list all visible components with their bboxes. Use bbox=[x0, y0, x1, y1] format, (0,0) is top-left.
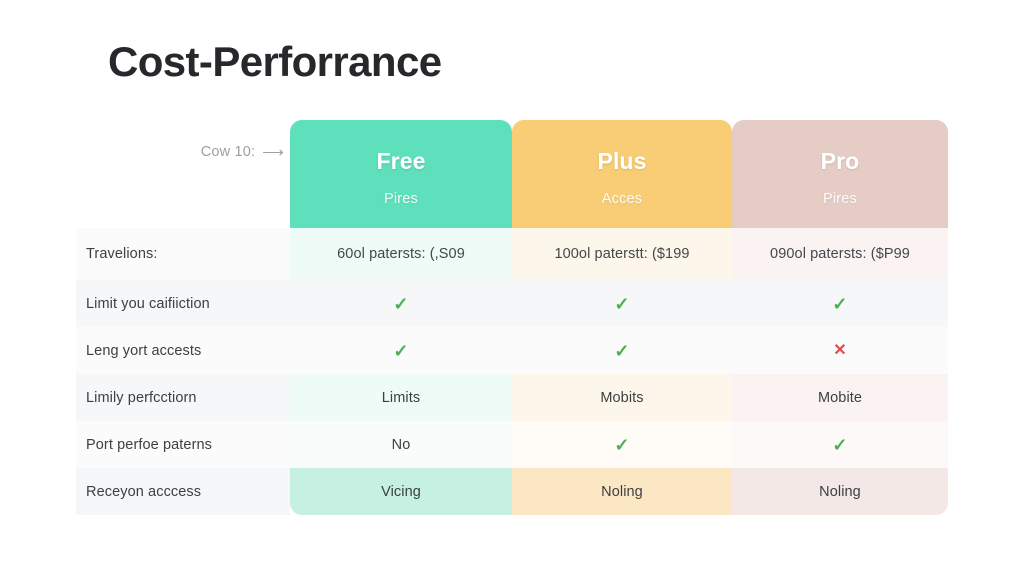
header-spacer-cell bbox=[76, 120, 290, 228]
cross-icon: ✕ bbox=[833, 343, 847, 359]
price-cell-free: 60ol patersts: (,S09 bbox=[290, 228, 512, 280]
feature-cell-free: Vicing bbox=[290, 468, 512, 515]
row-label-price: Travelions: bbox=[76, 228, 290, 280]
check-icon: ✓ bbox=[614, 436, 629, 454]
table-row: Leng yort accests ✓ ✓ ✕ bbox=[76, 327, 948, 374]
plan-name-pro: Pro bbox=[821, 148, 860, 175]
feature-cell-plus: ✓ bbox=[512, 421, 732, 468]
row-label: Leng yort accests bbox=[76, 327, 290, 374]
feature-cell-plus: ✓ bbox=[512, 280, 732, 327]
row-label: Limit you caifiiction bbox=[76, 280, 290, 327]
pricing-comparison-page: Cost-Perforrance Cow 10:⟶ Free Pires Plu… bbox=[0, 0, 1024, 576]
price-cell-plus: 100ol paterstt: ($199 bbox=[512, 228, 732, 280]
plan-name-free: Free bbox=[377, 148, 426, 175]
feature-cell-free: ✓ bbox=[290, 327, 512, 374]
check-icon: ✓ bbox=[832, 436, 847, 454]
feature-cell-pro: ✓ bbox=[732, 280, 948, 327]
table-row: Limily perfcctiorn Limits Mobits Mobite bbox=[76, 374, 948, 421]
table-row-price: Travelions: 60ol patersts: (,S09 100ol p… bbox=[76, 228, 948, 280]
plan-header-plus[interactable]: Plus Acces bbox=[512, 120, 732, 228]
feature-cell-plus: ✓ bbox=[512, 327, 732, 374]
page-title: Cost-Perforrance bbox=[108, 38, 442, 86]
plan-subtitle-free: Pires bbox=[384, 191, 418, 207]
check-icon: ✓ bbox=[614, 342, 629, 360]
plan-name-plus: Plus bbox=[598, 148, 647, 175]
row-label: Port perfoe paterns bbox=[76, 421, 290, 468]
comparison-table: Free Pires Plus Acces Pro Pires Travelio… bbox=[76, 120, 948, 516]
feature-cell-plus: Noling bbox=[512, 468, 732, 515]
feature-cell-pro: ✓ bbox=[732, 421, 948, 468]
table-row: Port perfoe paterns No ✓ ✓ bbox=[76, 421, 948, 468]
table-row: Limit you caifiiction ✓ ✓ ✓ bbox=[76, 280, 948, 327]
check-icon: ✓ bbox=[393, 342, 408, 360]
row-label: Receyon acccess bbox=[76, 468, 290, 515]
plan-subtitle-plus: Acces bbox=[602, 191, 643, 207]
feature-cell-pro: Noling bbox=[732, 468, 948, 515]
price-cell-pro: 090ol patersts: ($P99 bbox=[732, 228, 948, 280]
check-icon: ✓ bbox=[393, 295, 408, 313]
feature-cell-pro: Mobite bbox=[732, 374, 948, 421]
check-icon: ✓ bbox=[832, 295, 847, 313]
feature-cell-free: Limits bbox=[290, 374, 512, 421]
feature-cell-free: ✓ bbox=[290, 280, 512, 327]
table-header-row: Free Pires Plus Acces Pro Pires bbox=[76, 120, 948, 228]
row-label: Limily perfcctiorn bbox=[76, 374, 290, 421]
feature-cell-plus: Mobits bbox=[512, 374, 732, 421]
feature-cell-free: No bbox=[290, 421, 512, 468]
feature-cell-pro: ✕ bbox=[732, 327, 948, 374]
check-icon: ✓ bbox=[614, 295, 629, 313]
plan-header-free[interactable]: Free Pires bbox=[290, 120, 512, 228]
plan-header-pro[interactable]: Pro Pires bbox=[732, 120, 948, 228]
plan-subtitle-pro: Pires bbox=[823, 191, 857, 207]
table-row: Receyon acccess Vicing Noling Noling bbox=[76, 468, 948, 515]
